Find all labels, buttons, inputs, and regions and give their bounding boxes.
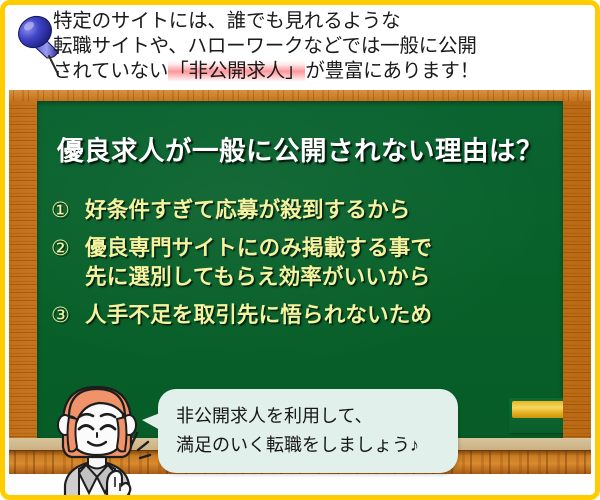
header-highlight-term: 「非公開求人」 [168, 60, 305, 82]
header-line-1-text: 特定のサイトには、誰でも見れるような [53, 10, 400, 32]
list-item-number: ② [51, 234, 85, 263]
list-item-line-1: 好条件すぎて応募が殺到するから [85, 198, 411, 222]
board-question-title: 優良求人が一般に公開されない理由は？ [37, 129, 563, 168]
list-item: ② 優良専門サイトにのみ掲載する事で 先に選別してもらえ効率がいいから [51, 234, 561, 292]
list-item-text: 好条件すぎて応募が殺到するから [85, 196, 561, 225]
list-item-text: 優良専門サイトにのみ掲載する事で 先に選別してもらえ効率がいいから [85, 234, 561, 292]
list-item-line-1: 人手不足を取引先に悟られないため [85, 303, 432, 327]
speech-bubble: 非公開求人を利用して、 満足のいく転職をしましょう♪ [158, 389, 458, 473]
list-item-number: ③ [51, 301, 85, 330]
blackboard-eraser-icon [509, 398, 563, 433]
header-line-3: されていない「非公開求人」が豊富にあります！ [53, 59, 593, 84]
list-item-number: ① [51, 196, 85, 225]
speech-line-2: 満足のいく転職をしましょう♪ [176, 431, 419, 460]
list-item-line-2: 先に選別してもらえ効率がいいから [85, 263, 561, 292]
infographic-card: 特定のサイトには、誰でも見れるような 転職サイトや、ハローワークなどでは一般に公… [0, 0, 600, 500]
header-line-2: 転職サイトや、ハローワークなどでは一般に公開 [53, 34, 593, 59]
header-text-block: 特定のサイトには、誰でも見れるような 転職サイトや、ハローワークなどでは一般に公… [53, 9, 593, 84]
wooden-frame-top-rail [9, 90, 591, 101]
header-line-3-pre: されていない [53, 60, 168, 82]
sparkle-lines-icon [123, 430, 153, 464]
header-line-2-text: 転職サイトや、ハローワークなどでは一般に公開 [53, 35, 477, 57]
eraser-felt-strip [512, 401, 563, 418]
list-item-line-1: 優良専門サイトにのみ掲載する事で [85, 236, 432, 260]
header-line-1: 特定のサイトには、誰でも見れるような [53, 9, 593, 34]
header-banner: 特定のサイトには、誰でも見れるような 転職サイトや、ハローワークなどでは一般に公… [5, 5, 595, 90]
header-line-3-post: が豊富にあります！ [305, 60, 479, 82]
speech-line-1: 非公開求人を利用して、 [176, 402, 419, 431]
speech-bubble-text: 非公開求人を利用して、 満足のいく転職をしましょう♪ [176, 402, 419, 460]
list-item-text: 人手不足を取引先に悟られないため [85, 301, 561, 330]
list-item: ③ 人手不足を取引先に悟られないため [51, 301, 561, 330]
reasons-list: ① 好条件すぎて応募が殺到するから ② 優良専門サイトにのみ掲載する事で 先に選… [51, 196, 561, 339]
list-item: ① 好条件すぎて応募が殺到するから [51, 196, 561, 225]
